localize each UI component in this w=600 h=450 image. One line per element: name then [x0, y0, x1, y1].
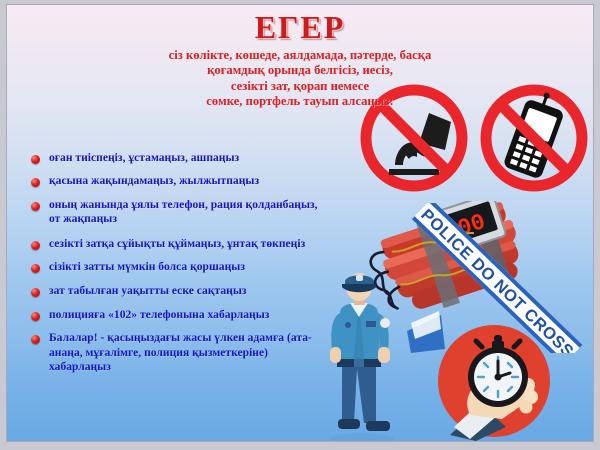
list-item: полицияға «102» телефонына хабарлаңыз [31, 308, 321, 322]
list-item: қасына жақындамаңыз, жылжытпаңыз [31, 174, 321, 188]
list-item-label: зат табылған уақытты еске сақтаңыз [49, 284, 247, 298]
bullet-dot-icon [31, 178, 40, 187]
bullet-dot-icon [31, 335, 40, 344]
bullet-dot-icon [31, 264, 40, 273]
list-item: зат табылған уақытты еске сақтаңыз [31, 284, 321, 298]
list-item-label: қасына жақындамаңыз, жылжытпаңыз [49, 174, 259, 188]
bullet-dot-icon [31, 155, 40, 164]
list-item: оған тиіспеңіз, ұстамаңыз, ашпаңыз [31, 151, 321, 165]
subtitle-line-1: сіз көлікте, көшеде, аялдамада, пәтерде,… [7, 48, 593, 64]
subtitle-line-3: сезікті зат, қорап немесе [7, 79, 593, 95]
bullet-dot-icon [31, 241, 40, 250]
subtitle-line-4: сөмке, портфель тауып алсаңыз: [7, 94, 593, 110]
list-item-label: Балалар! - қасыңыздағы жасы үлкен адамға… [49, 331, 321, 374]
list-item-label: сезікті затқа сұйықты құймаңыз, ұнтақ тө… [49, 237, 305, 251]
list-item: оның жанында ұялы телефон, рация қолданб… [31, 198, 321, 227]
instruction-list: оған тиіспеңіз, ұстамаңыз, ашпаңыз қасын… [31, 151, 321, 383]
poster-container: ЕГЕР сіз көлікте, көшеде, аялдамада, пәт… [0, 0, 600, 450]
list-item-label: полицияға «102» телефонына хабарлаңыз [49, 308, 269, 322]
bullet-dot-icon [31, 312, 40, 321]
list-item-label: сізікті затты мүмкін болса қоршаңыз [49, 260, 245, 274]
subtitle-line-2: қоғамдық орында белгісіз, иесіз, [7, 63, 593, 79]
police-tape: POLICE DO NOT CROSS [405, 203, 585, 353]
poster-frame: ЕГЕР сіз көлікте, көшеде, аялдамада, пәт… [6, 4, 594, 442]
list-item: сезікті затқа сұйықты құймаңыз, ұнтақ тө… [31, 237, 321, 251]
list-item-label: оған тиіспеңіз, ұстамаңыз, ашпаңыз [49, 151, 239, 165]
poster-title: ЕГЕР [7, 11, 593, 45]
poster-subtitle: сіз көлікте, көшеде, аялдамада, пәтерде,… [7, 48, 593, 110]
list-item: Балалар! - қасыңыздағы жасы үлкен адамға… [31, 331, 321, 374]
police-officer-figure-icon [312, 273, 407, 442]
list-item: сізікті затты мүмкін болса қоршаңыз [31, 260, 321, 274]
bullet-dot-icon [31, 288, 40, 297]
list-item-label: оның жанында ұялы телефон, рация қолданб… [49, 198, 321, 227]
bullet-dot-icon [31, 202, 40, 211]
title-block: ЕГЕР сіз көлікте, көшеде, аялдамада, пәт… [7, 11, 593, 110]
